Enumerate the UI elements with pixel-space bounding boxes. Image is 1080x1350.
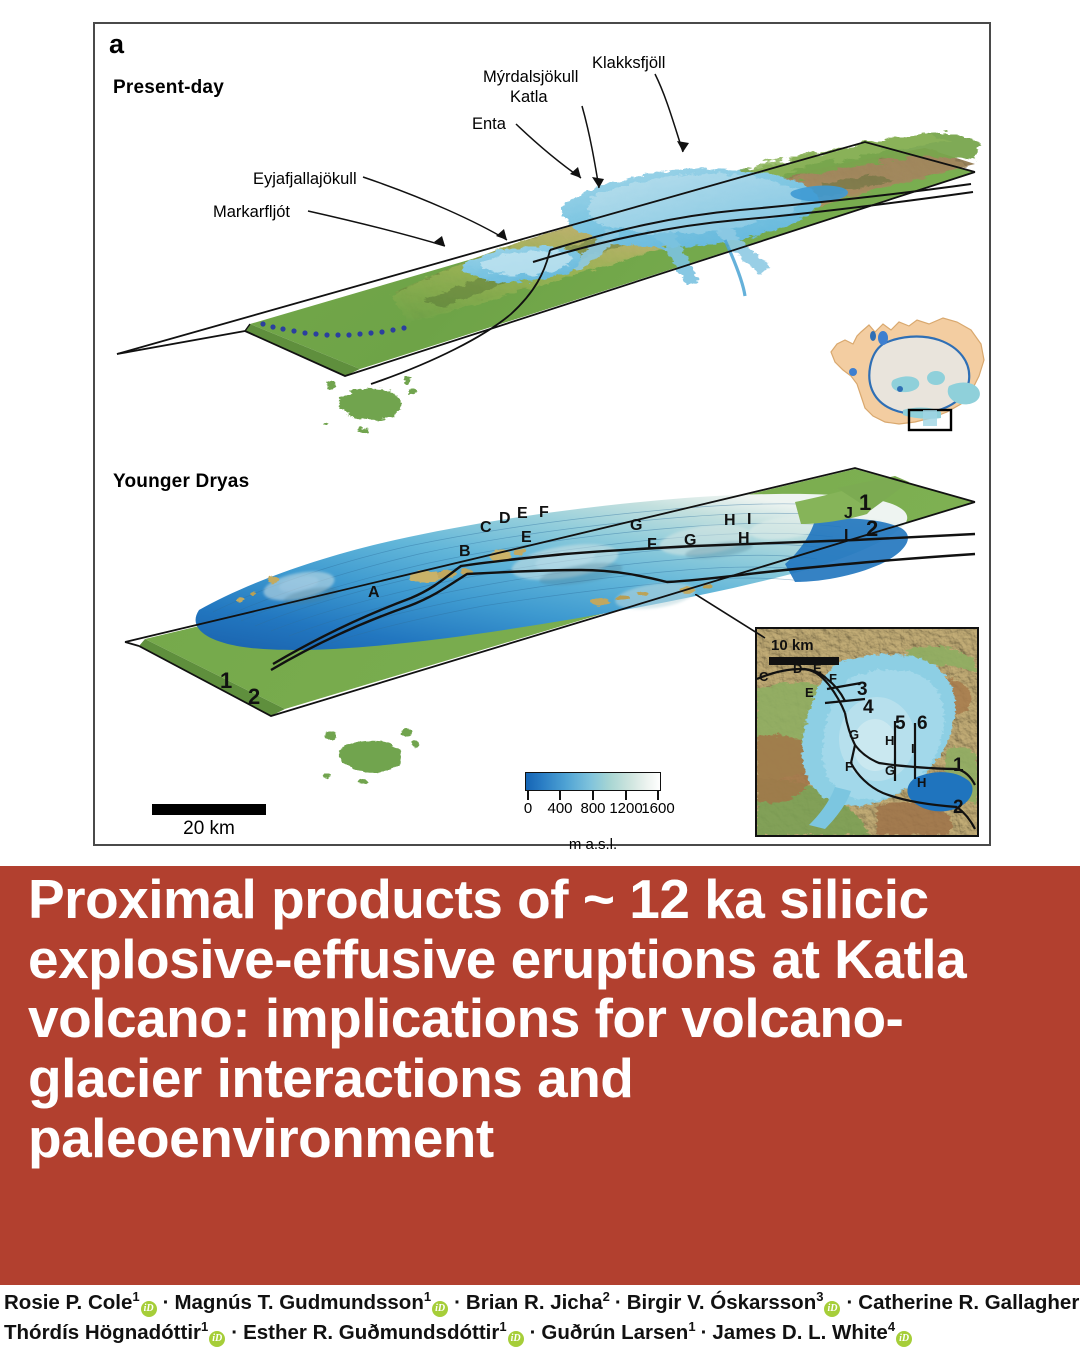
katla-inset-letter-G-lower: G xyxy=(885,763,895,778)
katla-inset-number-6: 6 xyxy=(917,713,928,735)
katla-inset-number-4: 4 xyxy=(863,697,874,719)
katla-inset-letter-I: I xyxy=(911,741,915,756)
profile-letter-upper-I: I xyxy=(747,511,751,529)
profile-letter-upper-J: J xyxy=(844,505,853,523)
profile-letter-lower-H: H xyxy=(738,530,750,548)
profile-letter-upper-F: F xyxy=(539,504,549,522)
profile-letter-C: C xyxy=(480,519,492,537)
profile-letter-upper-D: D xyxy=(499,510,511,528)
colorbar-gradient xyxy=(525,772,661,791)
katla-inset-letter-H-upper: H xyxy=(885,733,894,748)
colorbar-tick-400: 400 xyxy=(547,800,572,817)
colorbar-unit: m a.s.l. xyxy=(525,836,661,853)
colorbar-tick-0: 0 xyxy=(524,800,532,817)
scalebar: 20 km xyxy=(152,804,266,840)
scalebar-bar xyxy=(152,804,266,815)
profile-letter-lower-F: F xyxy=(647,536,657,554)
colorbar-tick-1600: 1600 xyxy=(641,800,674,817)
katla-inset-letter-F-upper: F xyxy=(829,671,837,686)
katla-inset-letter-F-lower: F xyxy=(845,759,853,774)
colorbar-ticks xyxy=(525,791,661,800)
katla-inset-number-2: 2 xyxy=(953,797,964,819)
katla-inset-letter-E-lower: E xyxy=(805,685,814,700)
title-band: Proximal products of ~ 12 ka silicic exp… xyxy=(0,866,1080,1285)
katla-map-inset: 10 km C D E E F G F G H H I 3 4 5 6 1 2 xyxy=(755,627,979,837)
paper-title: Proximal products of ~ 12 ka silicic exp… xyxy=(28,870,1063,1168)
profile-endpoint-left-1: 1 xyxy=(220,668,232,694)
scalebar-label: 20 km xyxy=(152,818,266,840)
inset-connector xyxy=(695,594,785,644)
katla-inset-letter-G-upper: G xyxy=(849,727,859,742)
author-list: Rosie P. Cole1iD·Magnús T. Gudmundsson1i… xyxy=(0,1288,1080,1348)
profile-letter-B: B xyxy=(459,543,471,561)
colorbar-tick-1200: 1200 xyxy=(609,800,642,817)
katla-inset-letter-C: C xyxy=(759,669,768,684)
katla-inset-number-5: 5 xyxy=(895,713,906,735)
colorbar-labels: 0 400 800 1200 1600 xyxy=(525,800,661,819)
katla-inset-number-1: 1 xyxy=(953,755,964,777)
katla-inset-letter-H-lower: H xyxy=(917,775,926,790)
colorbar-tick-800: 800 xyxy=(580,800,605,817)
figure-frame: a Present-day xyxy=(93,22,991,846)
profile-letter-A: A xyxy=(368,584,380,602)
profile-letter-upper-H: H xyxy=(724,512,736,530)
author-line-2: Thórdís Högnadóttir1iD·Esther R. Guðmund… xyxy=(4,1318,1076,1348)
profile-endpoint-left-2: 2 xyxy=(248,684,260,710)
elevation-colorbar: 0 400 800 1200 1600 m a.s.l. xyxy=(525,772,661,853)
profile-endpoint-right-2: 2 xyxy=(866,516,878,542)
katla-inset-letter-D: D xyxy=(793,661,802,676)
profile-letter-lower-G: G xyxy=(684,532,696,550)
profile-letter-lower-I: I xyxy=(844,527,848,545)
profile-letter-upper-E: E xyxy=(517,505,528,523)
profile-endpoint-right-1: 1 xyxy=(859,490,871,516)
profile-letter-upper-G: G xyxy=(630,517,642,535)
author-line-1: Rosie P. Cole1iD·Magnús T. Gudmundsson1i… xyxy=(4,1288,1076,1318)
figure-area: a Present-day xyxy=(0,0,1080,862)
katla-inset-letter-E-upper: E xyxy=(813,661,822,676)
profile-letter-lower-E: E xyxy=(521,529,532,547)
